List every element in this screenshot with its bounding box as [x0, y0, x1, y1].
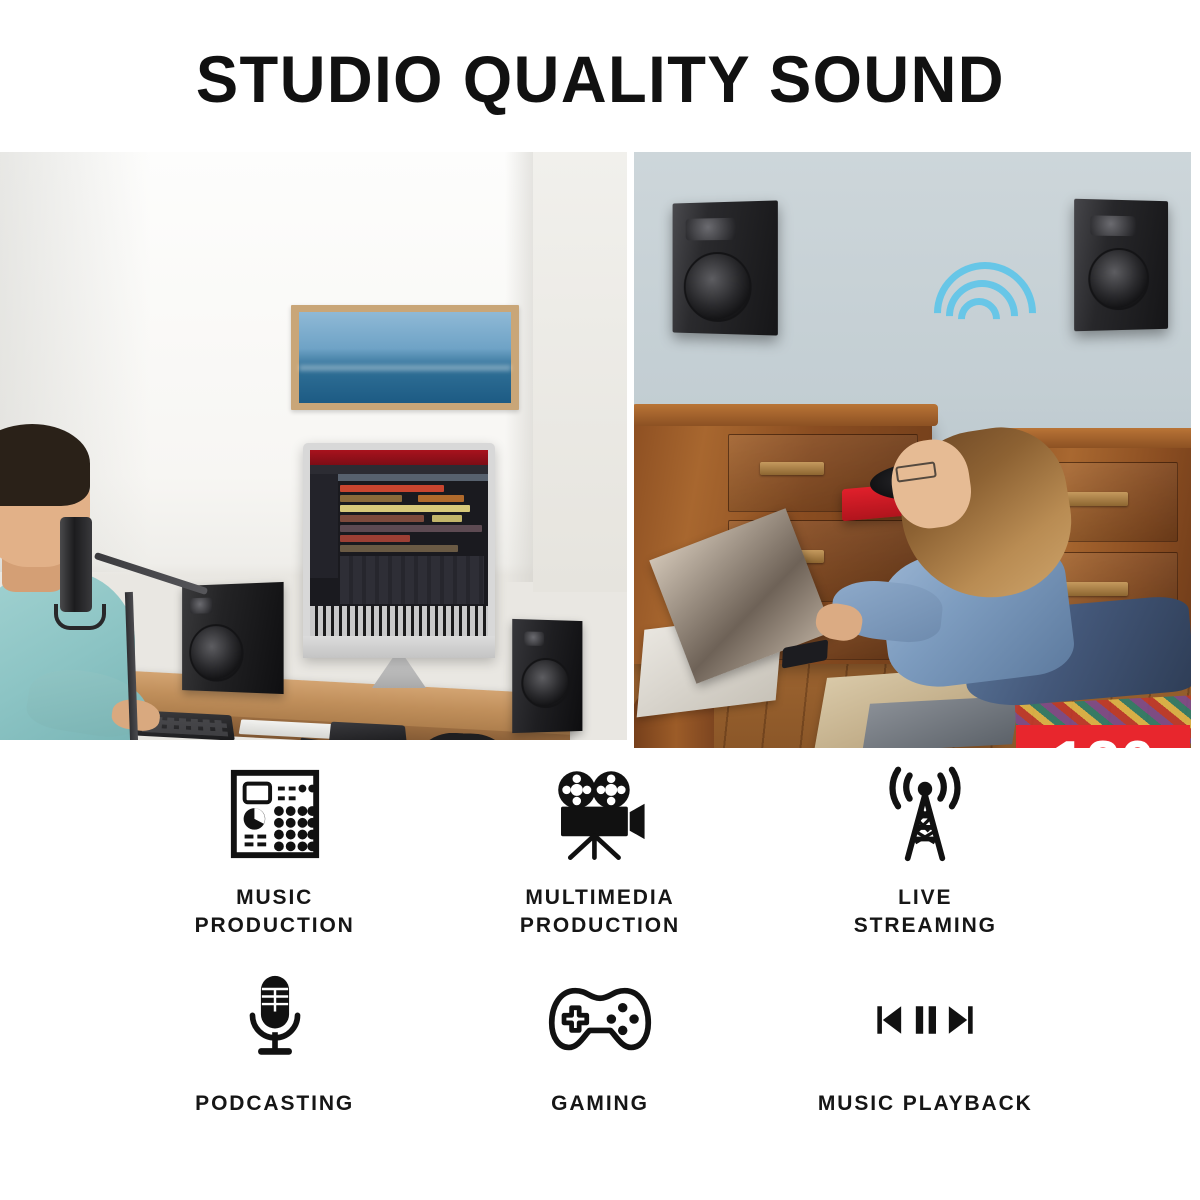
drum-machine-icon	[226, 762, 324, 866]
daw-piano-roll	[310, 606, 488, 636]
daw-clip	[340, 495, 402, 502]
daw-clip	[340, 535, 410, 542]
feature-label: LIVE STREAMING	[854, 884, 997, 939]
tweeter	[524, 631, 544, 646]
feature-label: MUSIC PLAYBACK	[818, 1090, 1033, 1118]
wall-right-panel	[533, 152, 627, 592]
next-track-icon	[949, 1006, 973, 1034]
daw-clip	[340, 515, 424, 522]
daw-title-bar	[310, 450, 488, 465]
daw-clip	[340, 505, 470, 512]
band-right-padding	[1191, 152, 1200, 748]
feature-label: MUSIC PRODUCTION	[195, 884, 355, 939]
broadcast-tower-icon	[875, 762, 975, 866]
bookshelf-speaker-left	[673, 200, 778, 335]
home-studio-photo	[0, 152, 627, 740]
daw-clip	[418, 495, 464, 502]
daw-clip	[340, 525, 482, 532]
all-in-one-computer	[303, 443, 495, 658]
media-transport-icon	[871, 972, 979, 1068]
daw-clip	[432, 515, 462, 522]
bluetooth-signal-waves	[930, 244, 1050, 354]
condenser-microphone	[60, 517, 92, 612]
artwork-canvas	[299, 312, 511, 403]
game-controller-icon	[547, 972, 653, 1068]
tweeter	[1090, 215, 1135, 236]
feature-grid: MUSIC PRODUCTION MULTIMEDIA	[0, 748, 1200, 1200]
photo-divider	[627, 152, 634, 748]
computer-chin	[303, 636, 495, 658]
feature-live-streaming[interactable]: LIVE STREAMING	[763, 762, 1088, 972]
studio-monitor-right	[512, 619, 582, 733]
header-banner: STUDIO QUALITY SOUND	[0, 0, 1200, 152]
daw-timeline-ruler	[338, 474, 488, 481]
feature-label: GAMING	[551, 1090, 649, 1118]
woofer	[521, 658, 570, 709]
feature-label: MULTIMEDIA PRODUCTION	[520, 884, 680, 939]
tweeter	[686, 218, 736, 241]
daw-track-list	[310, 474, 338, 578]
tweeter	[190, 598, 212, 614]
daw-screen	[310, 450, 488, 636]
woofer	[1088, 248, 1149, 311]
feature-podcasting[interactable]: PODCASTING	[112, 972, 437, 1182]
studio-monitor-left	[182, 582, 284, 694]
feature-music-production[interactable]: MUSIC PRODUCTION	[112, 762, 437, 972]
daw-clip	[340, 545, 458, 552]
microphone-icon	[239, 972, 311, 1068]
daw-mixer-strip	[340, 556, 484, 604]
left-cabinet-top	[634, 404, 938, 426]
page-title: STUDIO QUALITY SOUND	[195, 46, 1004, 112]
feature-music-playback[interactable]: MUSIC PLAYBACK	[763, 972, 1088, 1182]
mic-shock-mount	[54, 604, 106, 630]
photo-band: 120 WATTS Bluetooth®	[0, 152, 1200, 748]
daw-clip	[340, 485, 444, 492]
pause-icon	[916, 1006, 936, 1034]
drawer-pull	[760, 462, 824, 475]
bookshelf-speaker-right	[1074, 199, 1168, 332]
feature-multimedia-production[interactable]: MULTIMEDIA PRODUCTION	[437, 762, 762, 972]
framed-artwork	[291, 305, 519, 410]
living-room-photo	[634, 152, 1191, 748]
audio-interface	[329, 722, 407, 740]
feature-gaming[interactable]: GAMING	[437, 972, 762, 1182]
feature-label: PODCASTING	[195, 1090, 354, 1118]
woofer	[684, 252, 752, 323]
woofer	[189, 624, 243, 683]
previous-track-icon	[878, 1006, 902, 1034]
movie-camera-icon	[548, 762, 652, 866]
daw-toolbar	[310, 465, 488, 474]
